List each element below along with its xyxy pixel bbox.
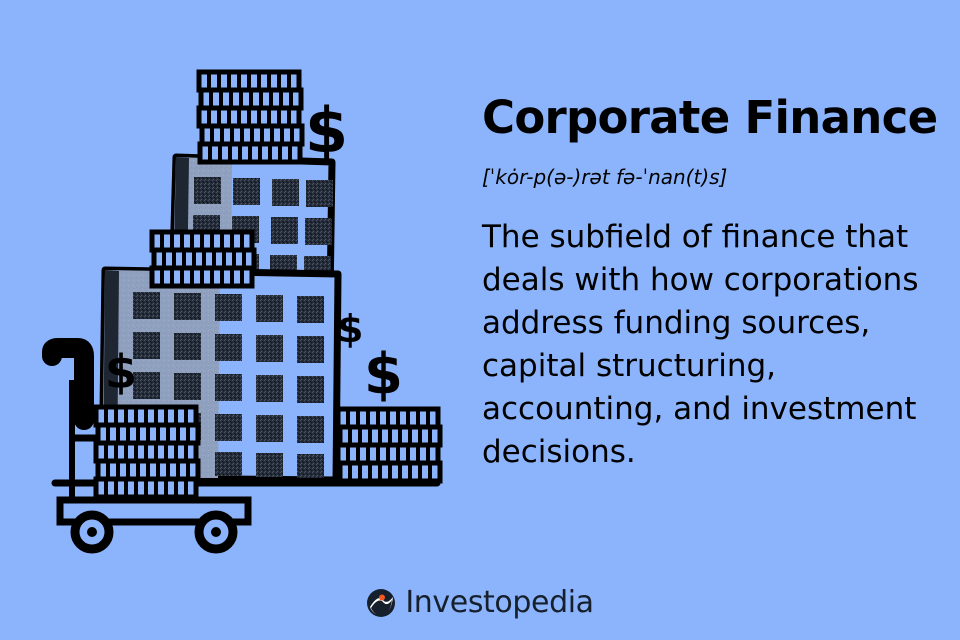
svg-text:$: $ <box>305 94 348 167</box>
dollar-sign-small-right: $ <box>337 307 363 351</box>
investopedia-swoosh-icon <box>366 588 396 618</box>
dollar-sign-right: $ <box>364 342 403 407</box>
coin-stack-middle <box>152 232 254 286</box>
coin-stack-tall-top <box>199 72 302 162</box>
coin-stack-right <box>338 409 440 481</box>
svg-text:$: $ <box>105 345 137 399</box>
corporate-finance-illustration: $ $ $ $ <box>0 0 470 570</box>
page-title: Corporate Finance <box>482 92 942 144</box>
pronunciation-text: [ˈkȯr-p(ə-)rət fə-ˈnan(t)s] <box>482 144 942 190</box>
dollar-sign-top: $ <box>305 94 348 167</box>
infographic-card: $ $ $ $ Corporate Finance [ˈkȯr-p(ə-)rət… <box>0 0 960 640</box>
investopedia-logo: Investopedia <box>0 588 960 618</box>
svg-text:$: $ <box>337 307 363 351</box>
definition-block: Corporate Finance [ˈkȯr-p(ə-)rət fə-ˈnan… <box>482 92 942 474</box>
svg-text:$: $ <box>364 342 403 407</box>
dollar-sign-left: $ <box>105 345 137 399</box>
definition-text: The subfield of finance that deals with … <box>482 190 937 474</box>
brand-name: Investopedia <box>405 588 593 618</box>
coin-stack-on-dolly <box>96 407 198 497</box>
